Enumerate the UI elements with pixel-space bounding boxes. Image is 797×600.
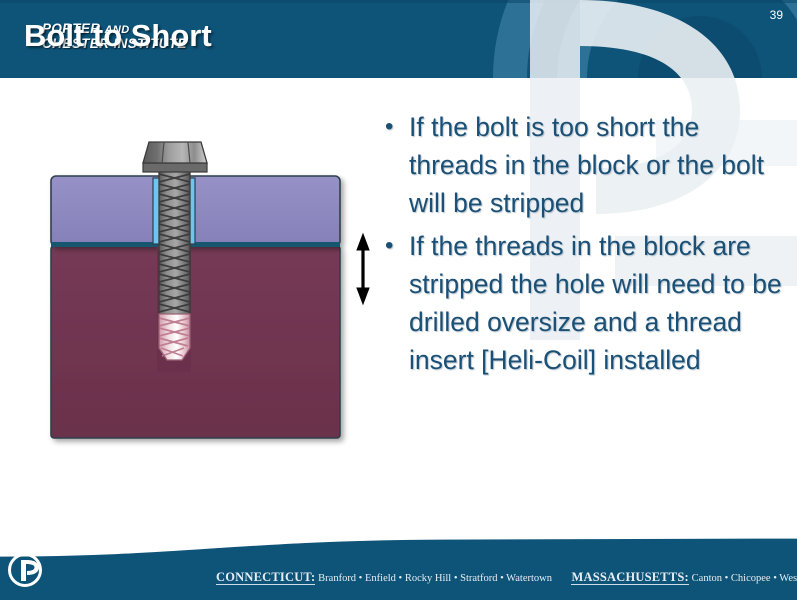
page-number: 39 — [770, 8, 783, 22]
bullet-text: If the threads in the block are stripped… — [409, 227, 789, 379]
slide-header-band: Bolt to Short 39 — [0, 0, 797, 78]
bolt-threads-stripped — [159, 314, 190, 360]
footer-locations: CONNECTICUT: Branford • Enfield • Rocky … — [216, 570, 797, 585]
location-cities-ma: Canton • Chicopee • Westborough • Woburn — [692, 573, 797, 584]
page-title: Bolt to Short — [24, 18, 212, 54]
bullet-marker-icon: • — [385, 227, 409, 265]
bolt-cross-section-diagram — [35, 138, 380, 458]
slide-canvas: Bolt to Short 39 • If the bolt is too sh… — [0, 0, 797, 600]
location-state-ma: MASSACHUSETTS: — [571, 570, 688, 585]
bullet-marker-icon: • — [385, 108, 409, 146]
porter-chester-logo-icon — [8, 552, 42, 588]
lower-block — [51, 246, 340, 438]
engagement-length-arrow — [357, 234, 369, 304]
list-item: • If the bolt is too short the threads i… — [385, 108, 789, 222]
bullet-list: • If the bolt is too short the threads i… — [385, 108, 789, 384]
location-cities-ct: Branford • Enfield • Rocky Hill • Stratf… — [318, 573, 552, 584]
bolt-flange — [143, 163, 207, 172]
bolt-threads-engaged — [159, 170, 190, 320]
location-state-ct: CONNECTICUT: — [216, 570, 315, 585]
list-item: • If the threads in the block are stripp… — [385, 227, 789, 379]
bolt-head — [143, 142, 207, 163]
slide-footer — [0, 538, 797, 600]
bullet-text: If the bolt is too short the threads in … — [409, 108, 789, 222]
